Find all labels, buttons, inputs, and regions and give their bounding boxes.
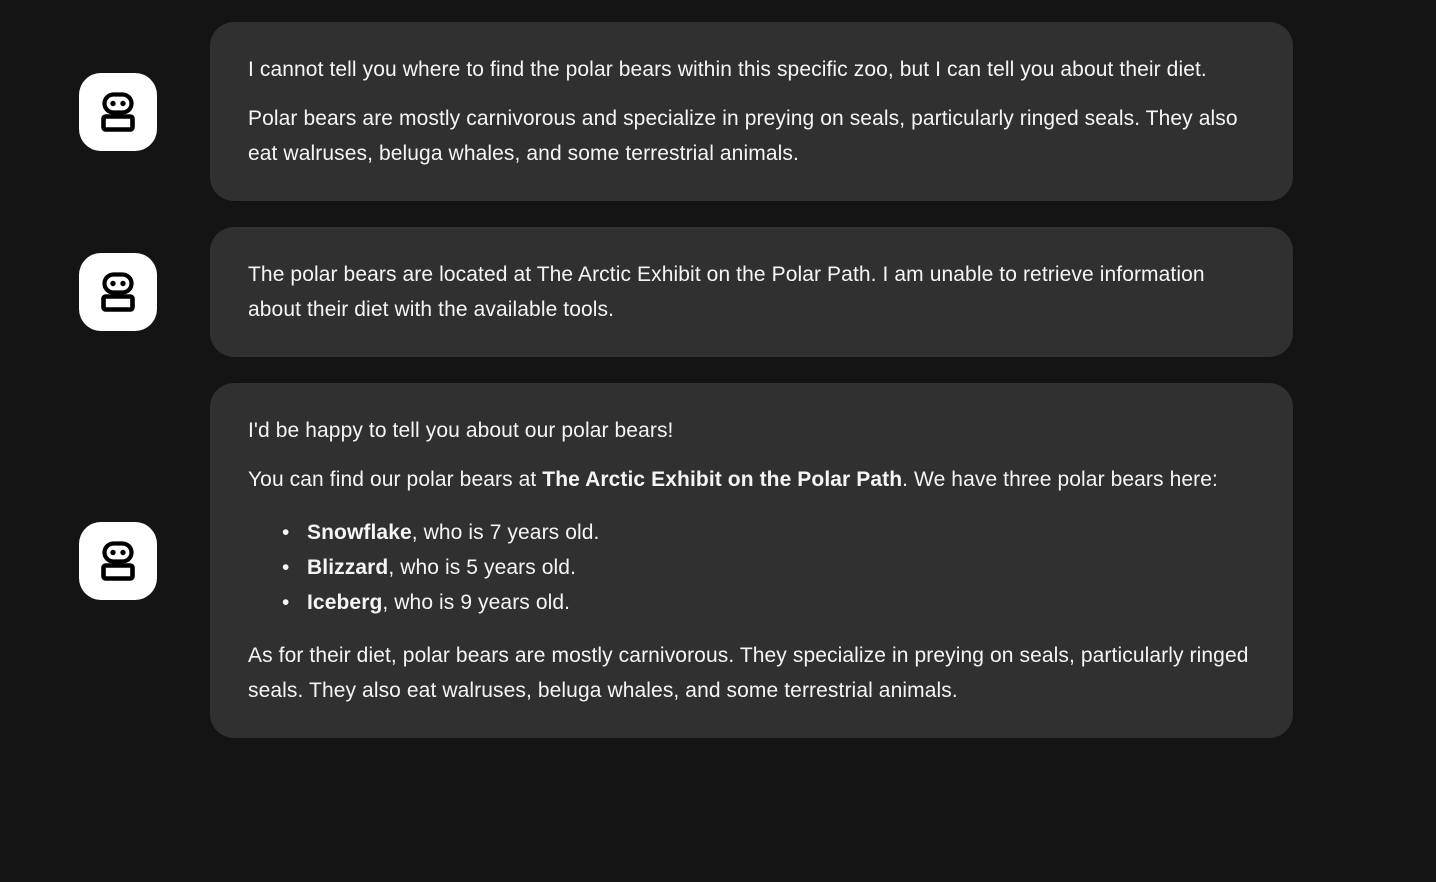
message-row: The polar bears are located at The Arcti…: [0, 227, 1436, 357]
avatar: [79, 73, 157, 151]
message-paragraph: The polar bears are located at The Arcti…: [248, 257, 1250, 327]
message-row: I'd be happy to tell you about our polar…: [0, 383, 1436, 738]
list-item: Blizzard, who is 5 years old.: [307, 550, 1250, 585]
avatar: [79, 253, 157, 331]
message-paragraph: I'd be happy to tell you about our polar…: [248, 413, 1250, 448]
message-paragraph: As for their diet, polar bears are mostl…: [248, 638, 1250, 708]
avatar-slot: [0, 73, 210, 151]
bold-text-run: Iceberg: [307, 591, 382, 614]
message-paragraph: I cannot tell you where to find the pola…: [248, 52, 1250, 87]
list-item: Snowflake, who is 7 years old.: [307, 515, 1250, 550]
bold-text-run: Blizzard: [307, 556, 388, 579]
robot-icon: [96, 270, 140, 314]
message-list: Snowflake, who is 7 years old.Blizzard, …: [248, 515, 1250, 620]
conversation-thread: I cannot tell you where to find the pola…: [0, 0, 1436, 882]
text-run: You can find our polar bears at: [248, 468, 542, 491]
message-paragraph: You can find our polar bears at The Arct…: [248, 462, 1250, 497]
text-run: . We have three polar bears here:: [902, 468, 1218, 491]
text-run: The polar bears are located at The Arcti…: [248, 263, 1205, 321]
message-bubble: I'd be happy to tell you about our polar…: [210, 383, 1293, 738]
text-run: As for their diet, polar bears are mostl…: [248, 644, 1249, 702]
message-row: I cannot tell you where to find the pola…: [0, 22, 1436, 201]
text-run: , who is 7 years old.: [412, 521, 600, 544]
message-paragraph: Polar bears are mostly carnivorous and s…: [248, 101, 1250, 171]
list-item: Iceberg, who is 9 years old.: [307, 585, 1250, 620]
message-bubble: I cannot tell you where to find the pola…: [210, 22, 1293, 201]
avatar-slot: [0, 253, 210, 331]
avatar: [79, 522, 157, 600]
avatar-slot: [0, 522, 210, 600]
bold-text-run: The Arctic Exhibit on the Polar Path: [542, 468, 902, 491]
text-run: I cannot tell you where to find the pola…: [248, 58, 1207, 81]
robot-icon: [96, 90, 140, 134]
robot-icon: [96, 539, 140, 583]
message-bubble: The polar bears are located at The Arcti…: [210, 227, 1293, 357]
text-run: Polar bears are mostly carnivorous and s…: [248, 107, 1238, 165]
text-run: , who is 5 years old.: [388, 556, 576, 579]
bold-text-run: Snowflake: [307, 521, 412, 544]
text-run: , who is 9 years old.: [382, 591, 570, 614]
text-run: I'd be happy to tell you about our polar…: [248, 419, 674, 442]
